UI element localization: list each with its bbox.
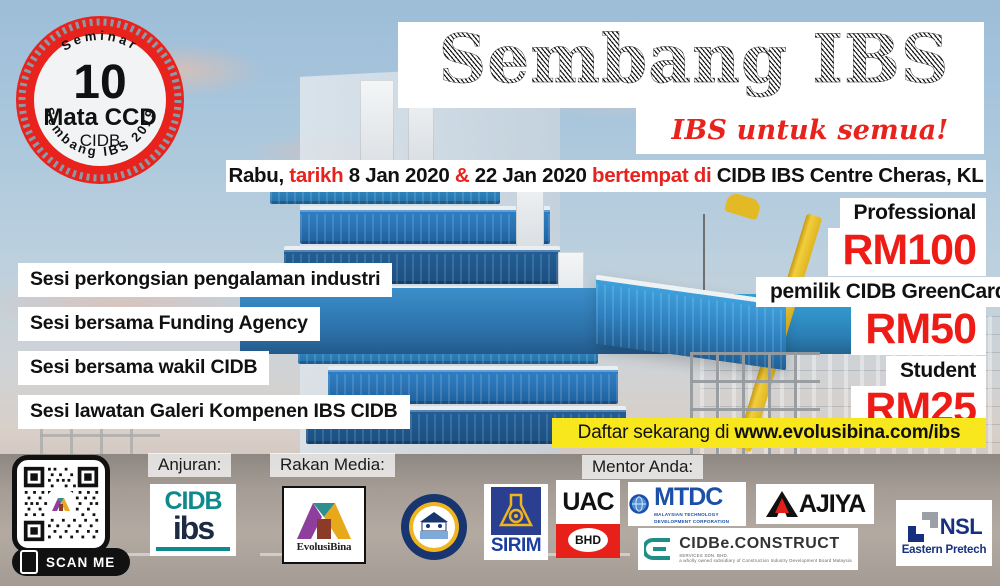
date-part-1: Rabu, (228, 164, 289, 187)
badge-unit: Mata CCD (43, 104, 156, 131)
econstruct-subsidiary-text: a wholly owned subsidiary of Constructio… (679, 558, 852, 563)
evolusibina-mark-icon (51, 494, 71, 514)
logo-evolusibina: EvolusiBina (282, 486, 366, 564)
uac-bhd-text: BHD (575, 533, 601, 547)
cta-url[interactable]: www.evolusibina.com/ibs (734, 422, 960, 443)
event-date-line: Rabu, tarikh 8 Jan 2020 & 22 Jan 2020 be… (226, 160, 986, 192)
date-part-2: 8 Jan 2020 (343, 164, 455, 187)
sirim-wordmark: SIRIM (491, 535, 541, 557)
session-item: Sesi lawatan Galeri Kompenen IBS CIDB (18, 395, 410, 429)
price-tier: pemilik CIDB GreenCard RM50 (756, 277, 986, 355)
price-label: Student (886, 356, 986, 386)
date-part-3: 22 Jan 2020 (469, 164, 592, 187)
nsl-chevron-icon (906, 510, 940, 544)
price-label: Professional (840, 198, 986, 228)
price-tier: Professional RM100 (756, 198, 986, 276)
date-highlight-bertempat: bertempat di (592, 164, 711, 187)
badge-points: 10 (73, 56, 126, 109)
logo-uac-bhd: UAC BHD (556, 480, 620, 558)
mtdc-subtitle: MALAYSIAN TECHNOLOGY DEVELOPMENT CORPORA… (654, 512, 746, 524)
price-amount: RM100 (828, 228, 986, 276)
cta-prefix: Daftar sekarang di (578, 422, 735, 443)
logo-nsl-eastern-pretech: NSL Eastern Pretech (896, 500, 992, 566)
scan-me-label: SCAN ME (46, 555, 115, 570)
mtdc-globe-icon (628, 487, 650, 521)
date-highlight-tarikh: tarikh (289, 164, 343, 187)
anjuran-label: Anjuran: (148, 453, 231, 477)
pricing-panel: Professional RM100 pemilik CIDB GreenCar… (756, 198, 986, 435)
logo-cidb-econstruct: CIDBe.CONSTRUCT SERVICES SDN. BHD. a who… (638, 528, 858, 570)
rakan-media-label: Rakan Media: (270, 453, 395, 477)
ccd-points-badge: Seminar Sembang IBS 2019 10 Mata CCD CID… (14, 14, 186, 186)
session-list: Sesi perkongsian pengalaman industri Ses… (18, 263, 410, 439)
logo-mtdc: MTDC MALAYSIAN TECHNOLOGY DEVELOPMENT CO… (628, 482, 746, 526)
price-amount: RM50 (851, 307, 986, 355)
nsl-subtitle: Eastern Pretech (902, 544, 987, 556)
mentor-anda-label: Mentor Anda: (582, 455, 703, 479)
cidb-ibs-bottom-text: ibs (173, 514, 213, 543)
poster-canvas: Seminar Sembang IBS 2019 10 Mata CCD CID… (0, 0, 1000, 586)
scan-me-button[interactable]: SCAN ME (12, 548, 130, 576)
session-item: Sesi bersama wakil CIDB (18, 351, 269, 385)
qr-matrix (22, 465, 100, 543)
evolusibina-house-icon (295, 497, 353, 541)
cidb-ibs-rule (156, 547, 230, 551)
pkp-kelantan-seal-icon (396, 492, 472, 562)
page-title: Sembang IBS (404, 16, 984, 102)
registration-cta[interactable]: Daftar sekarang di www.evolusibina.com/i… (552, 418, 986, 448)
econstruct-e-icon (644, 534, 674, 564)
ajiya-wordmark: AJIYA (799, 490, 865, 519)
badge-org: CIDB (80, 131, 121, 150)
session-item: Sesi bersama Funding Agency (18, 307, 320, 341)
econstruct-wordmark: CIDBe.CONSTRUCT (679, 535, 852, 553)
date-highlight-amp: & (455, 164, 470, 187)
phone-icon (20, 550, 38, 574)
session-item: Sesi perkongsian pengalaman industri (18, 263, 392, 297)
logo-cidb-ibs: CIDB ibs (150, 484, 236, 556)
uac-wordmark: UAC (562, 488, 613, 517)
ajiya-mark-icon (765, 489, 799, 519)
sirim-flask-icon (491, 487, 541, 535)
logo-pkp-kelantan (396, 492, 472, 562)
nsl-wordmark: NSL (940, 516, 983, 538)
evolusibina-wordmark: EvolusiBina (297, 541, 352, 553)
price-label: pemilik CIDB GreenCard (756, 277, 1000, 307)
qr-code[interactable] (12, 455, 110, 553)
logo-sirim: SIRIM (484, 484, 548, 560)
mtdc-wordmark: MTDC (654, 483, 746, 512)
date-part-4: CIDB IBS Centre Cheras, KL (711, 164, 983, 187)
logo-ajiya: AJIYA (756, 484, 874, 524)
tagline: IBS untuk semua! (636, 108, 984, 154)
qr-center-logo (48, 491, 74, 517)
